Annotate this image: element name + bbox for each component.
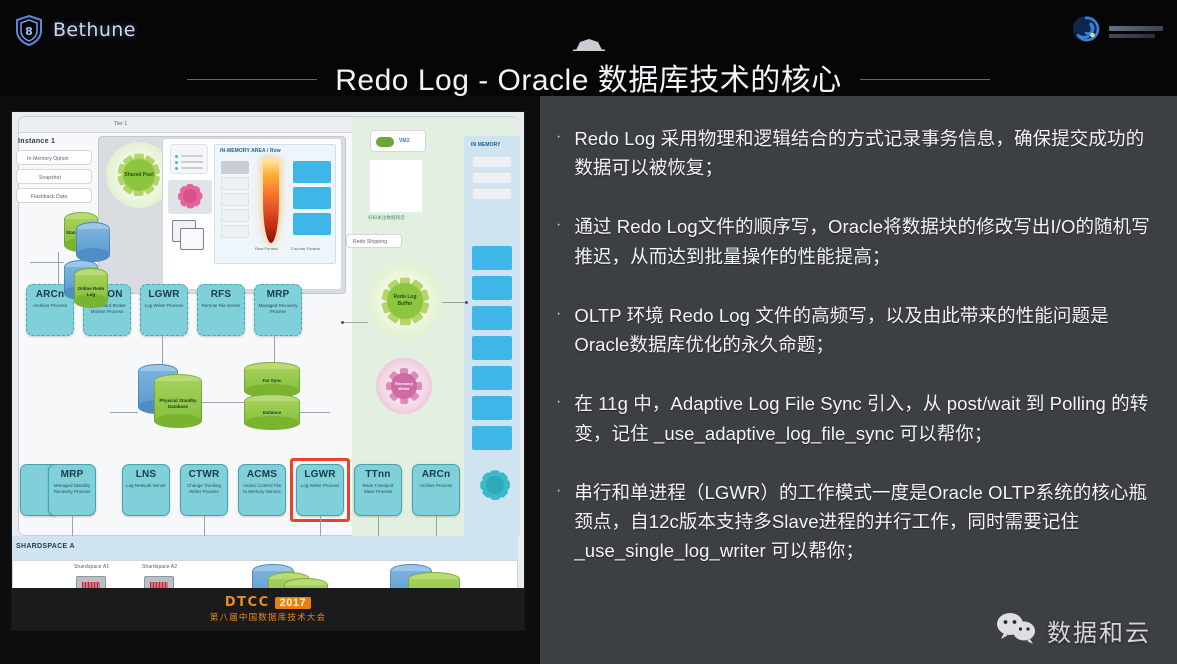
partner-logo-text (1109, 26, 1163, 38)
document-icon (180, 228, 204, 250)
process-name: LGWR (148, 290, 179, 300)
diagram-redo-shipping: Redo Shipping (346, 234, 402, 248)
process-name: TTnn (365, 470, 390, 480)
process-name: ARCn (422, 470, 451, 480)
diagram-shardspace-band: SHARDSPACE A (12, 536, 518, 560)
process-name: ACMS (247, 470, 277, 480)
diagram-side-button-label: Snapshot (39, 175, 61, 181)
crown-ornament-icon (566, 38, 612, 51)
bullet-item: · 通过 Redo Log文件的顺序写，Oracle将数据块的修改写出I/O的随… (556, 212, 1156, 270)
bullet-text: Redo Log 采用物理和逻辑结合的方式记录事务信息，确保提交成功的数据可以被… (574, 124, 1156, 182)
process-name: MRP (61, 470, 84, 480)
shardspace-label: SHARDSPACE A (16, 543, 75, 550)
presentation-slide: 8 Bethune (0, 0, 1177, 664)
process-desc: Log Network Server (124, 483, 168, 489)
diagram-redo-log-buffer: Redo Log Buffer (368, 264, 442, 338)
process-box-lns: LNS Log Network Server (122, 464, 170, 516)
db-cylinder-label: Far Sync (244, 378, 300, 384)
diagram-vm-logo: VM2 (370, 130, 426, 152)
process-box-rfs: RFS Remote File Server (197, 284, 245, 336)
db-cylinder: Instance (244, 394, 300, 430)
process-box-ctwr: CTWR Change Tracking Writer Process (180, 464, 228, 516)
process-name: LGWR (304, 470, 335, 480)
diagram-redo-shipping-label: Redo Shipping (353, 239, 387, 245)
conference-main-line: DTCC 2017 (225, 595, 311, 610)
conference-year: 2017 (275, 597, 311, 609)
process-box-lgwr-highlighted: LGWR Log Writer Process (296, 464, 344, 516)
process-name: MRP (267, 290, 290, 300)
bullet-marker: · (556, 389, 561, 447)
process-desc: Remote File Server (200, 303, 243, 309)
process-box-mrp: MRP Managed Recovery Process (254, 284, 302, 336)
shard-chip-label: Shardspace A1 (74, 564, 109, 570)
bullet-marker: · (556, 478, 561, 566)
process-desc: Managed Recovery Process (255, 303, 301, 315)
title-rule-left (187, 79, 317, 80)
diagram-shared-pool-label: Shared Pool (123, 159, 155, 191)
process-desc: Atomic Control File to Memory Service (239, 483, 285, 495)
gear-icon (176, 182, 204, 210)
conference-banner: DTCC 2017 第八届中国数据库技术大会 (12, 588, 524, 630)
diagram-right-panel-label: IN MEMORY (471, 142, 501, 148)
svg-text:8: 8 (25, 25, 33, 38)
db-cylinder-label: Physical Standby Database (154, 398, 202, 410)
bullet-text: 串行和单进程（LGWR）的工作模式一度是Oracle OLTP系统的核心瓶颈点，… (574, 478, 1156, 566)
diagram-inmemory-footer-left: Row Format (255, 246, 278, 251)
oracle-architecture-diagram-image: Tier 1 Tier 2 Instance 1 In-Memory Optio… (12, 112, 524, 630)
bullet-item: · OLTP 环境 Redo Log 文件的高频写，以及由此带来的性能问题是 O… (556, 301, 1156, 359)
gear-icon (478, 468, 512, 502)
wechat-icon (995, 611, 1037, 650)
process-name: LNS (136, 470, 157, 480)
diagram-heat-column (263, 159, 279, 243)
title-row: Redo Log - Oracle 数据库技术的核心 (0, 55, 1177, 99)
diagram-inmemory-title: IN-MEMORY AREA / Row (220, 148, 281, 154)
process-desc: Managed Standby Recovery Process (49, 483, 95, 495)
diagram-side-button: In-Memory Option (16, 150, 92, 165)
diagram-redo-log-buffer-label: Redo Log Buffer (387, 283, 423, 319)
diagram-qr-caption: 扫码关注数据和云 (368, 215, 405, 221)
bullet-marker: · (556, 301, 561, 359)
bullet-list: · Redo Log 采用物理和逻辑结合的方式记录事务信息，确保提交成功的数据可… (556, 124, 1156, 565)
diagram-side-button: Flashback Data (16, 188, 92, 203)
title-block: Redo Log - Oracle 数据库技术的核心 (0, 38, 1177, 99)
shard-chip-label: Shardspace A2 (142, 564, 177, 570)
diagram-pink-donut: RecoveryWriter (376, 358, 432, 414)
process-name: RFS (211, 290, 232, 300)
watermark: 数据和云 (995, 611, 1151, 650)
bullet-marker: · (556, 124, 561, 182)
diagram-tab-label: Tier 1 (114, 121, 127, 127)
process-box-arcn-2: ARCn Archive Process (412, 464, 460, 516)
db-cylinder (76, 222, 110, 262)
process-box-acms: ACMS Atomic Control File to Memory Servi… (238, 464, 286, 516)
watermark-text: 数据和云 (1047, 613, 1151, 648)
bullet-item: · 在 11g 中，Adaptive Log File Sync 引入，从 po… (556, 389, 1156, 447)
process-desc: Archive Process (418, 483, 455, 489)
bullet-item: · Redo Log 采用物理和逻辑结合的方式记录事务信息，确保提交成功的数据可… (556, 124, 1156, 182)
bullet-text: OLTP 环境 Redo Log 文件的高频写，以及由此带来的性能问题是 Ora… (574, 301, 1156, 359)
bullet-marker: · (556, 212, 561, 270)
title-rule-right (860, 79, 990, 80)
conference-name: DTCC (225, 595, 270, 610)
page-title: Redo Log - Oracle 数据库技术的核心 (335, 55, 841, 99)
process-name: ARCn (36, 290, 65, 300)
process-desc: Log Writer Process (143, 303, 185, 309)
bullet-item: · 串行和单进程（LGWR）的工作模式一度是Oracle OLTP系统的核心瓶颈… (556, 478, 1156, 566)
db-cylinder-label: Online Redo Log (74, 286, 108, 298)
diagram-inmemory-footer-right: Column Format (291, 246, 320, 251)
process-box-lgwr: LGWR Log Writer Process (140, 284, 188, 336)
process-desc: Archiver Process (31, 303, 69, 309)
diagram-inmemory-area: IN-MEMORY AREA / Row Row Format Column F… (214, 144, 336, 264)
process-desc: Redo Transport Slave Process (355, 483, 401, 495)
diagram-side-button: Snapshot (16, 169, 92, 184)
db-cylinder-label: Instance (244, 410, 300, 416)
bullet-text: 在 11g 中，Adaptive Log File Sync 引入，从 post… (574, 389, 1156, 447)
process-desc: Change Tracking Writer Process (181, 483, 227, 495)
process-box-mrp-2: MRP Managed Standby Recovery Process (48, 464, 96, 516)
process-name: CTWR (189, 470, 220, 480)
qr-code-icon (370, 160, 422, 212)
db-cylinder: Physical Standby Database (154, 374, 202, 428)
process-box-ttnn: TTnn Redo Transport Slave Process (354, 464, 402, 516)
diagram-instance-label: Instance 1 (18, 138, 55, 145)
db-cylinder: Online Redo Log (74, 268, 108, 308)
diagram-side-button-label: In-Memory Option (27, 156, 69, 162)
diagram-side-button-label: Flashback Data (31, 194, 67, 200)
bullet-text: 通过 Redo Log文件的顺序写，Oracle将数据块的修改写出I/O的随机写… (574, 212, 1156, 270)
diagram-list-icon (170, 144, 208, 174)
conference-subtitle: 第八届中国数据库技术大会 (210, 611, 326, 623)
db-cylinder: Far Sync (244, 362, 300, 398)
process-desc: Log Writer Process (299, 483, 341, 489)
